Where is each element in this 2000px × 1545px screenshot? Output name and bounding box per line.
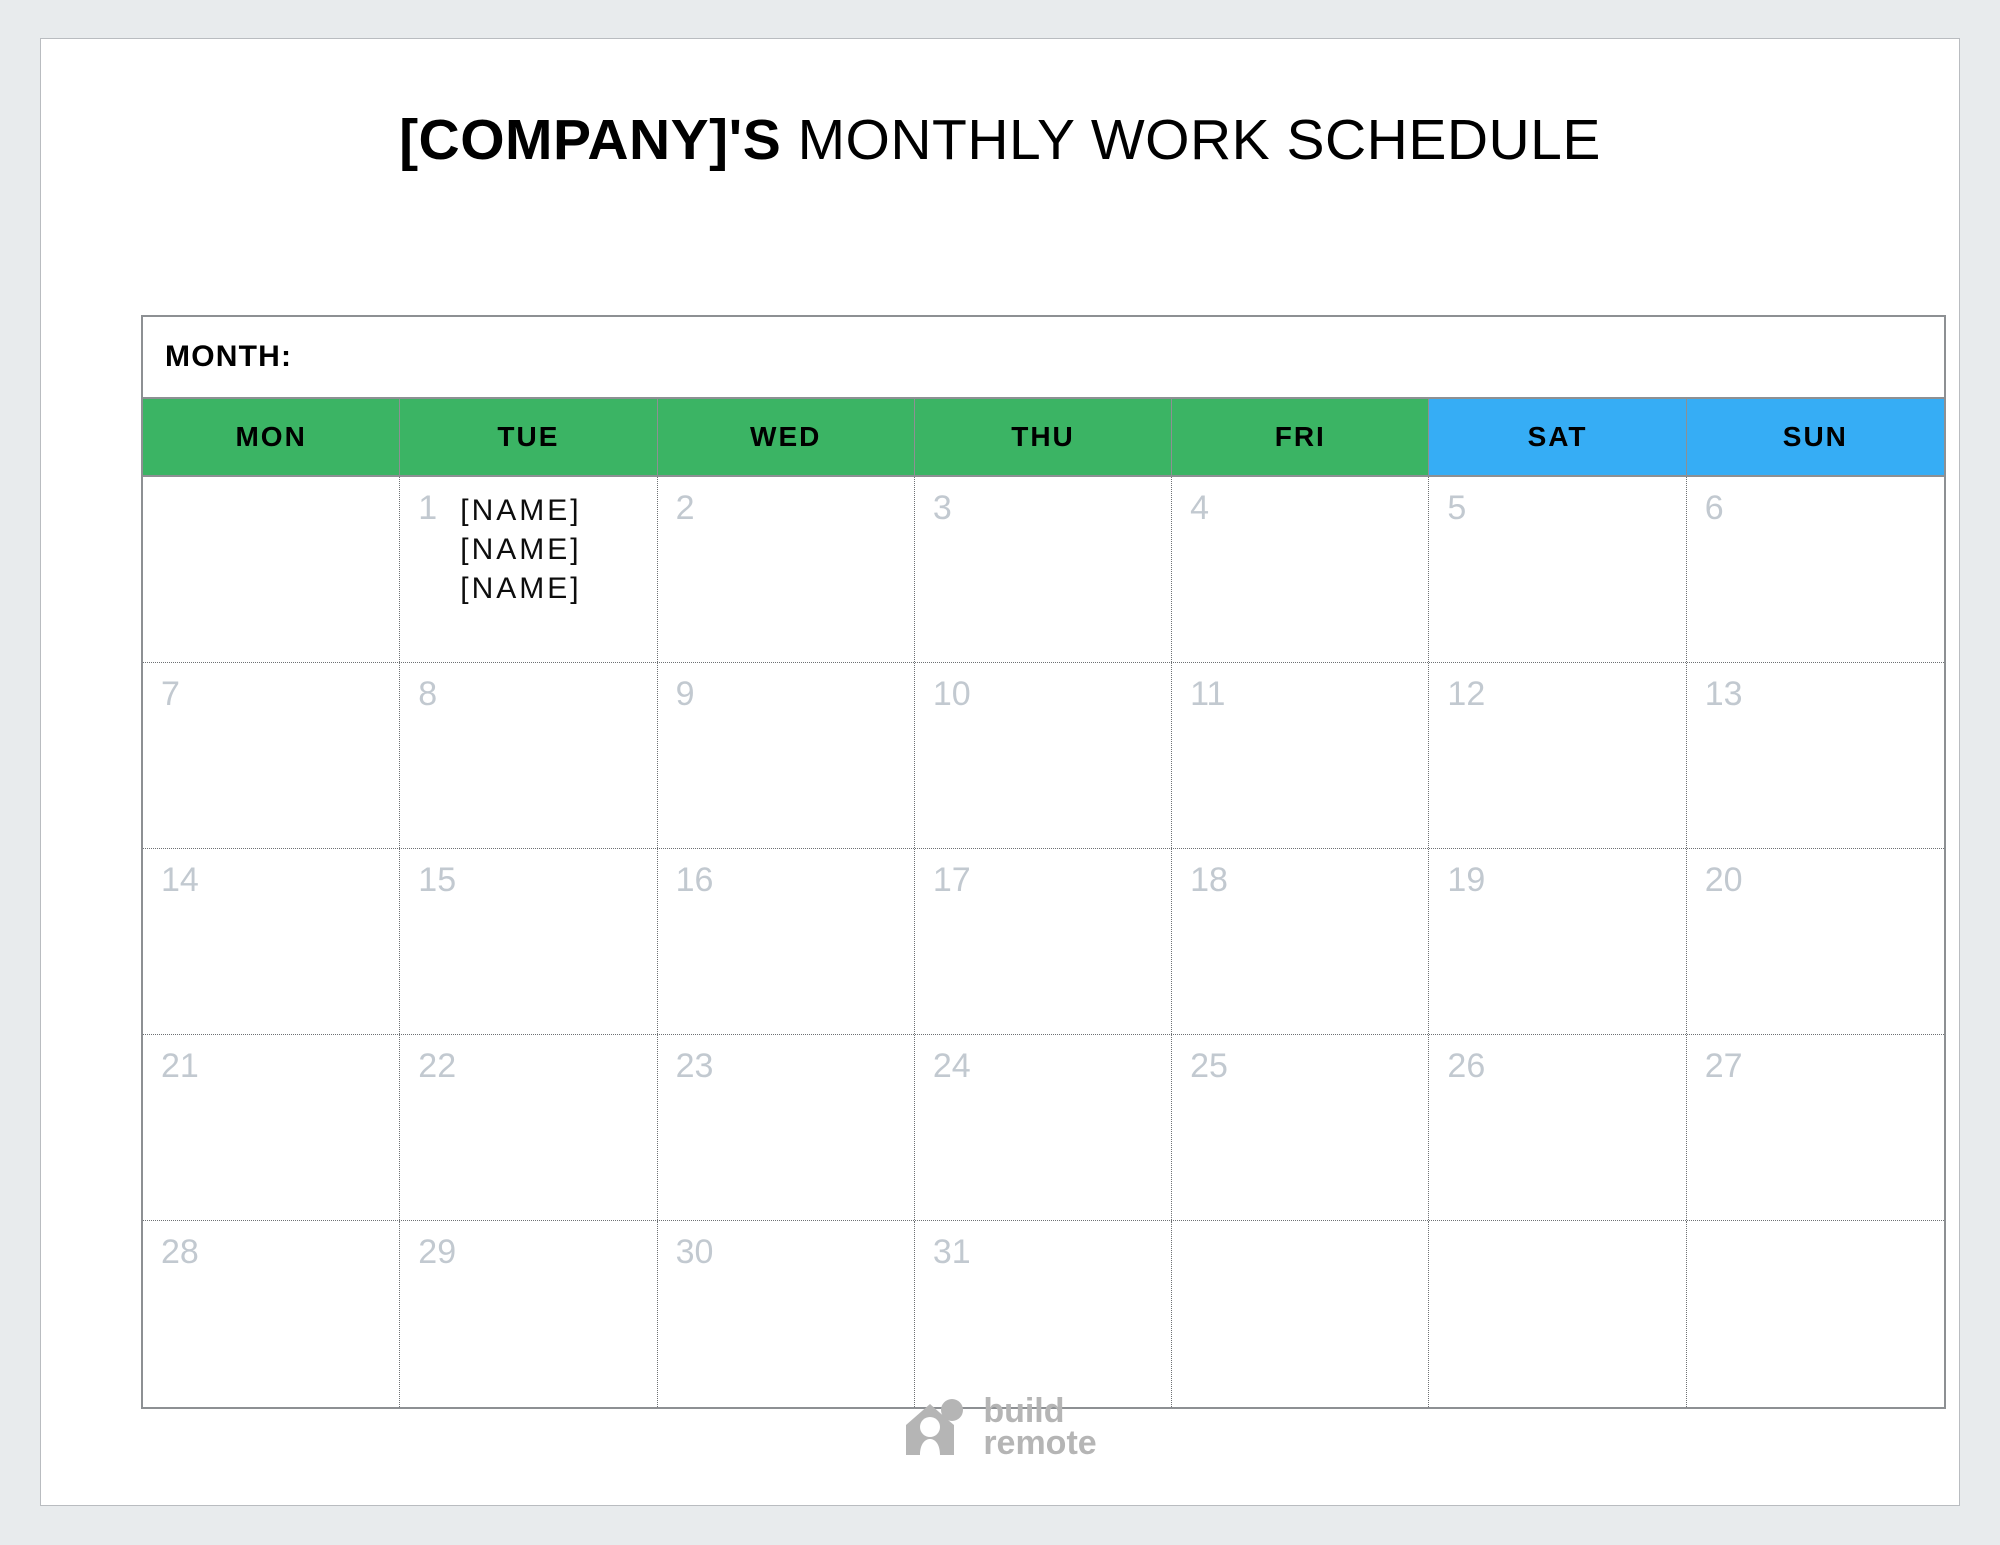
weekday-header-wed: WED: [658, 399, 915, 475]
day-number: 26: [1447, 1049, 1485, 1083]
day-cell-5[interactable]: 5: [1429, 477, 1686, 662]
day-number: 27: [1705, 1049, 1743, 1083]
day-cell-25[interactable]: 25: [1172, 1035, 1429, 1220]
day-cell-26[interactable]: 26: [1429, 1035, 1686, 1220]
calendar-week-row: 78910111213: [143, 663, 1944, 849]
day-entry[interactable]: [NAME]: [460, 491, 581, 530]
day-cell-30[interactable]: 30: [658, 1221, 915, 1407]
day-number: 11: [1190, 677, 1225, 711]
day-cell-empty[interactable]: [143, 477, 400, 662]
page-title-company: [COMPANY]'S: [399, 108, 781, 172]
page-title: [COMPANY]'S MONTHLY WORK SCHEDULE: [41, 109, 1959, 172]
day-number: 24: [933, 1049, 971, 1083]
weekday-header-sun: SUN: [1687, 399, 1944, 475]
day-number: 9: [676, 677, 710, 711]
day-entry[interactable]: [NAME]: [460, 530, 581, 569]
footer-logo: build remote: [41, 1396, 1959, 1459]
month-label: MONTH:: [165, 340, 292, 374]
calendar: MONTH: MONTUEWEDTHUFRISATSUN 1[NAME][NAM…: [141, 315, 1961, 1409]
day-number: 3: [933, 491, 967, 525]
weekday-header-mon: MON: [143, 399, 400, 475]
day-cell-4[interactable]: 4: [1172, 477, 1429, 662]
day-cell-17[interactable]: 17: [915, 849, 1172, 1034]
day-number: 19: [1447, 863, 1485, 897]
weekday-header-thu: THU: [915, 399, 1172, 475]
day-cell-24[interactable]: 24: [915, 1035, 1172, 1220]
day-number: 4: [1190, 491, 1224, 525]
calendar-body: 1[NAME][NAME][NAME]234567891011121314151…: [143, 477, 1944, 1407]
day-cell-14[interactable]: 14: [143, 849, 400, 1034]
day-cell-empty[interactable]: [1172, 1221, 1429, 1407]
day-entry-list: [NAME][NAME][NAME]: [460, 491, 581, 608]
day-cell-empty[interactable]: [1687, 1221, 1944, 1407]
calendar-week-row: 21222324252627: [143, 1035, 1944, 1221]
page-title-wrap: [COMPANY]'S MONTHLY WORK SCHEDULE: [41, 39, 1959, 172]
day-number: 29: [418, 1235, 456, 1269]
weekday-header-fri: FRI: [1172, 399, 1429, 475]
day-number: 21: [161, 1049, 199, 1083]
day-cell-9[interactable]: 9: [658, 663, 915, 848]
day-cell-27[interactable]: 27: [1687, 1035, 1944, 1220]
weekday-header-row: MONTUEWEDTHUFRISATSUN: [143, 399, 1944, 477]
day-cell-12[interactable]: 12: [1429, 663, 1686, 848]
day-number: 14: [161, 863, 199, 897]
day-number: 1: [418, 491, 452, 525]
day-cell-2[interactable]: 2: [658, 477, 915, 662]
weekday-header-sat: SAT: [1429, 399, 1686, 475]
day-number: 15: [418, 863, 456, 897]
calendar-frame: MONTH: MONTUEWEDTHUFRISATSUN 1[NAME][NAM…: [141, 315, 1946, 1409]
day-number: 2: [676, 491, 710, 525]
day-cell-31[interactable]: 31: [915, 1221, 1172, 1407]
day-cell-22[interactable]: 22: [400, 1035, 657, 1220]
logo-line-remote: remote: [983, 1428, 1096, 1459]
day-entry[interactable]: [NAME]: [460, 569, 581, 608]
day-cell-11[interactable]: 11: [1172, 663, 1429, 848]
day-number: 23: [676, 1049, 714, 1083]
day-cell-10[interactable]: 10: [915, 663, 1172, 848]
day-number: 30: [676, 1235, 714, 1269]
day-cell-29[interactable]: 29: [400, 1221, 657, 1407]
day-number: 12: [1447, 677, 1485, 711]
day-number: 5: [1447, 491, 1481, 525]
day-number: 17: [933, 863, 971, 897]
day-cell-7[interactable]: 7: [143, 663, 400, 848]
day-cell-1[interactable]: 1[NAME][NAME][NAME]: [400, 477, 657, 662]
day-cell-15[interactable]: 15: [400, 849, 657, 1034]
calendar-week-row: 1[NAME][NAME][NAME]23456: [143, 477, 1944, 663]
day-cell-21[interactable]: 21: [143, 1035, 400, 1220]
day-cell-3[interactable]: 3: [915, 477, 1172, 662]
day-cell-19[interactable]: 19: [1429, 849, 1686, 1034]
day-number: 6: [1705, 491, 1739, 525]
day-number: 25: [1190, 1049, 1228, 1083]
day-cell-23[interactable]: 23: [658, 1035, 915, 1220]
day-number: 7: [161, 677, 195, 711]
day-number: 8: [418, 677, 452, 711]
page-title-rest: MONTHLY WORK SCHEDULE: [781, 108, 1601, 172]
day-cell-16[interactable]: 16: [658, 849, 915, 1034]
day-number: 28: [161, 1235, 199, 1269]
day-cell-empty[interactable]: [1429, 1221, 1686, 1407]
day-cell-20[interactable]: 20: [1687, 849, 1944, 1034]
day-number: 16: [676, 863, 714, 897]
calendar-week-row: 14151617181920: [143, 849, 1944, 1035]
day-cell-13[interactable]: 13: [1687, 663, 1944, 848]
day-cell-28[interactable]: 28: [143, 1221, 400, 1407]
logo-wordmark: build remote: [983, 1396, 1096, 1459]
day-number: 20: [1705, 863, 1743, 897]
weekday-header-tue: TUE: [400, 399, 657, 475]
calendar-week-row: 28293031: [143, 1221, 1944, 1407]
day-number: 13: [1705, 677, 1743, 711]
buildremote-house-person-icon: [903, 1397, 969, 1459]
document-sheet: [COMPANY]'S MONTHLY WORK SCHEDULE MONTH:…: [40, 38, 1960, 1506]
day-cell-18[interactable]: 18: [1172, 849, 1429, 1034]
day-cell-6[interactable]: 6: [1687, 477, 1944, 662]
month-bar[interactable]: MONTH:: [143, 317, 1944, 399]
day-cell-8[interactable]: 8: [400, 663, 657, 848]
day-number: 31: [933, 1235, 971, 1269]
day-number: 10: [933, 677, 971, 711]
day-number: 18: [1190, 863, 1228, 897]
day-number: 22: [418, 1049, 456, 1083]
